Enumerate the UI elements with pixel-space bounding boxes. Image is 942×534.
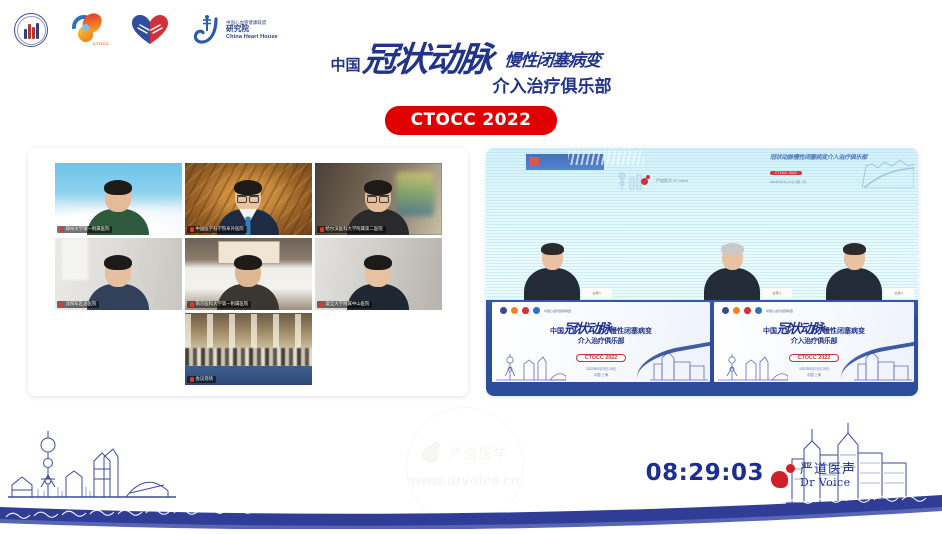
title-brush: 冠状动脉 bbox=[361, 44, 492, 76]
participant-name-label: 哈尔滨医科大学附属第二医院 bbox=[317, 226, 386, 233]
backdrop-drvoice-mark: 严道医声 Dr Voice bbox=[641, 178, 688, 185]
microphone-icon bbox=[190, 227, 194, 232]
backdrop-title-block: 冠状动脉慢性闭塞病变介入治疗俱乐部 CTOCC 2022 2022年9月23日-… bbox=[770, 152, 866, 182]
backdrop-bund-icon bbox=[862, 154, 914, 188]
panelist-body bbox=[826, 268, 882, 300]
stage-banner-right: 中国心血管健康联盟中国冠状动脉慢性闭塞病变介入治疗俱乐部CTOCC 202220… bbox=[714, 302, 914, 382]
title-line-1: 慢性闭塞病变 bbox=[491, 46, 612, 71]
backdrop-title-sub: 2022年9月23日-25日 中国·上海 bbox=[770, 180, 866, 184]
microphone-icon bbox=[190, 302, 194, 307]
panelist-right bbox=[826, 245, 882, 300]
watermark-url: www.drvoice.cn bbox=[410, 472, 520, 488]
video-grid-row: 会议现场 bbox=[185, 313, 312, 385]
drvoice-brand-cn: 严道医声 bbox=[800, 463, 856, 477]
participant-name-text: 沈阳军区总医院 bbox=[66, 301, 97, 307]
panelist-nameplate-text: 主持人 bbox=[894, 291, 903, 295]
microphone-icon bbox=[60, 227, 64, 232]
banner-title-line1: 慢性闭塞病变 bbox=[610, 328, 652, 335]
panelist-body bbox=[704, 268, 760, 300]
conference-hall-tile[interactable]: 会议现场 bbox=[185, 313, 312, 385]
participant-name-text: 郑州大学第一附属医院 bbox=[66, 226, 110, 232]
microphone-icon bbox=[320, 302, 324, 307]
ctocc-year-badge: CTOCC 2022 bbox=[385, 106, 558, 135]
panelist-nameplate: 主持人 bbox=[762, 288, 792, 298]
watermark-dot-large bbox=[422, 446, 439, 463]
decorative-ribbon-border bbox=[0, 495, 942, 529]
backdrop-left-logo bbox=[526, 154, 604, 170]
participant-name-label: 复旦大学附属中山医院 bbox=[317, 301, 373, 308]
event-title-block: 中国 冠状动脉 慢性闭塞病变 介入治疗俱乐部 CTOCC 2022 bbox=[0, 42, 942, 135]
participant-tile-3[interactable]: 哈尔滨医科大学附属第二医院 bbox=[315, 163, 442, 235]
chh-en-label: China Heart House bbox=[226, 34, 278, 40]
banner-title-prefix: 中国 bbox=[763, 328, 777, 335]
banner-title-line1: 慢性闭塞病变 bbox=[823, 328, 865, 335]
panelist-nameplate-text: 主持人 bbox=[772, 291, 781, 295]
panelist-head bbox=[844, 245, 865, 270]
drvoice-brand-en: Dr Voice bbox=[800, 477, 856, 489]
participant-tile-1[interactable]: 郑州大学第一附属医院 bbox=[55, 163, 182, 235]
banner-sponsor-logos: 中国心血管健康联盟 bbox=[500, 307, 571, 314]
banner-title: 中国冠状动脉慢性闭塞病变介入治疗俱乐部CTOCC 20222022年9月23日-… bbox=[550, 322, 652, 377]
banner-badge: CTOCC 2022 bbox=[789, 354, 840, 362]
banner-badge: CTOCC 2022 bbox=[576, 354, 627, 362]
participant-name-text: 中国医学科学院阜外医院 bbox=[196, 226, 244, 232]
microphone-icon bbox=[60, 302, 64, 307]
participant-name-label: 沈阳军区总医院 bbox=[57, 301, 100, 308]
title-prefix: 中国 bbox=[330, 54, 360, 75]
participant-tile-6[interactable]: 复旦大学附属中山医院 bbox=[315, 238, 442, 310]
banner-sponsor-logos: 中国心血管健康联盟 bbox=[722, 307, 793, 314]
banner-sponsor-text: 中国心血管健康联盟 bbox=[544, 309, 571, 313]
participant-tile-5[interactable]: 南京医科大学第一附属医院 bbox=[185, 238, 312, 310]
participant-name-label: 郑州大学第一附属医院 bbox=[57, 226, 113, 233]
china-heart-house-text: 中国心血管健康联盟 研究院 China Heart House bbox=[226, 20, 278, 40]
banner-title-brush: 冠状动脉 bbox=[564, 321, 610, 336]
backdrop-title-badge: CTOCC 2022 bbox=[770, 171, 802, 175]
session-timer: 08:29:03 bbox=[646, 460, 764, 486]
video-grid: 郑州大学第一附属医院中国医学科学院阜外医院哈尔滨医科大学附属第二医院沈阳军区总医… bbox=[50, 163, 446, 385]
participant-name-text: 复旦大学附属中山医院 bbox=[326, 301, 370, 307]
backdrop-title-text: 冠状动脉慢性闭塞病变介入治疗俱乐部 bbox=[770, 152, 866, 161]
banner-title-prefix: 中国 bbox=[550, 328, 564, 335]
seal-glyph bbox=[23, 22, 40, 39]
shanghai-skyline-decoration bbox=[8, 427, 308, 503]
panelist-left bbox=[524, 245, 580, 300]
video-grid-row: 郑州大学第一附属医院中国医学科学院阜外医院哈尔滨医科大学附属第二医院 bbox=[55, 163, 442, 235]
panelist-head bbox=[722, 245, 743, 270]
banner-date: 2022年9月23日-25日 bbox=[550, 366, 652, 371]
live-stage-panel: 严道医声 Dr Voice 冠状动脉慢性闭塞病变介入治疗俱乐部 CTOCC 20… bbox=[486, 148, 918, 396]
title-line-2: 介入治疗俱乐部 bbox=[493, 72, 612, 97]
microphone-icon bbox=[190, 377, 194, 382]
participant-name-text: 哈尔滨医科大学附属第二医院 bbox=[326, 226, 383, 232]
participant-name-label: 会议现场 bbox=[187, 376, 217, 383]
banner-title-line2: 介入治疗俱乐部 bbox=[763, 336, 865, 346]
panelist-center bbox=[704, 245, 760, 300]
drvoice-brand: 严道医声 Dr Voice bbox=[771, 463, 856, 489]
participant-name-text: 南京医科大学第一附属医院 bbox=[196, 301, 249, 307]
video-grid-row: 沈阳军区总医院南京医科大学第一附属医院复旦大学附属中山医院 bbox=[55, 238, 442, 310]
banner-title-brush: 冠状动脉 bbox=[777, 321, 823, 336]
participant-name-label: 南京医科大学第一附属医院 bbox=[187, 301, 252, 308]
chh-cn-big: 研究院 bbox=[226, 24, 249, 33]
panelist-nameplate: 主持人 bbox=[884, 288, 914, 298]
stage-banner-left: 中国心血管健康联盟中国冠状动脉慢性闭塞病变介入治疗俱乐部CTOCC 202220… bbox=[492, 302, 710, 382]
drvoice-logo-icon bbox=[771, 464, 795, 488]
participant-name-text: 会议现场 bbox=[196, 376, 214, 382]
backdrop-drvoice-text: 严道医声 Dr Voice bbox=[656, 179, 688, 184]
event-title-art: 中国 冠状动脉 慢性闭塞病变 介入治疗俱乐部 bbox=[330, 42, 611, 97]
banner-title-line2: 介入治疗俱乐部 bbox=[550, 336, 652, 346]
panelist-nameplate: 主持人 bbox=[582, 288, 612, 298]
microphone-icon bbox=[320, 227, 324, 232]
tile-background bbox=[185, 313, 312, 385]
china-heart-house-icon bbox=[192, 15, 222, 45]
panelist-head bbox=[542, 245, 563, 270]
panelist-nameplate-text: 主持人 bbox=[592, 291, 601, 295]
watermark-dot-small bbox=[432, 441, 440, 449]
banner-sponsor-text: 中国心血管健康联盟 bbox=[766, 309, 793, 313]
participant-tile-4[interactable]: 沈阳军区总医院 bbox=[55, 238, 182, 310]
video-grid-panel: 郑州大学第一附属医院中国医学科学院阜外医院哈尔滨医科大学附属第二医院沈阳军区总医… bbox=[28, 148, 468, 396]
participant-name-label: 中国医学科学院阜外医院 bbox=[187, 226, 247, 233]
panelist-body bbox=[524, 268, 580, 300]
watermark-cn-text: 严道医学 bbox=[449, 444, 509, 464]
participant-tile-2[interactable]: 中国医学科学院阜外医院 bbox=[185, 163, 312, 235]
